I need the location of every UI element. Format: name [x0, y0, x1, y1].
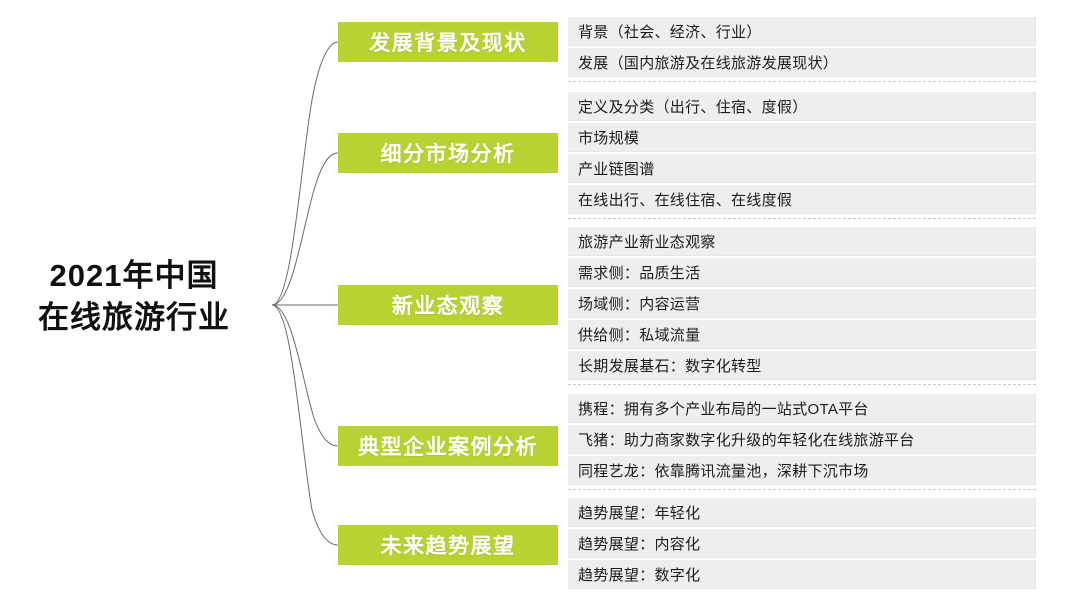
leaf-label: 产业链图谱 [568, 158, 655, 179]
leaf-label: 旅游产业新业态观察 [568, 231, 716, 252]
leaf-row[interactable]: 趋势展望：内容化 [568, 529, 1036, 558]
leaf-row[interactable]: 市场规模 [568, 123, 1036, 152]
leaf-row[interactable]: 定义及分类（出行、住宿、度假） [568, 92, 1036, 121]
connector-line-5 [272, 305, 338, 545]
leaf-row[interactable]: 背景（社会、经济、行业） [568, 17, 1036, 46]
group-separator [568, 218, 1036, 219]
branch-label-5: 未来趋势展望 [381, 530, 516, 560]
leaf-label: 长期发展基石：数字化转型 [568, 355, 762, 376]
group-separator [568, 384, 1036, 385]
leaf-label: 趋势展望：数字化 [568, 564, 700, 585]
mindmap-canvas: 2021年中国 在线旅游行业 发展背景及现状 细分市场分析 新业态观察 典型企业… [0, 0, 1080, 607]
branch-box-2[interactable]: 细分市场分析 [338, 133, 558, 173]
leaf-label: 趋势展望：年轻化 [568, 502, 700, 523]
leaf-row[interactable]: 场域侧：内容运营 [568, 289, 1036, 318]
leaf-row[interactable]: 旅游产业新业态观察 [568, 227, 1036, 256]
leaf-label: 供给侧：私域流量 [568, 324, 700, 345]
leaf-row[interactable]: 同程艺龙：依靠腾讯流量池，深耕下沉市场 [568, 456, 1036, 485]
leaf-label: 趋势展望：内容化 [568, 533, 700, 554]
branch-box-1[interactable]: 发展背景及现状 [338, 22, 558, 62]
leaf-label: 背景（社会、经济、行业） [568, 21, 762, 42]
leaf-row[interactable]: 发展（国内旅游及在线旅游发展现状） [568, 48, 1036, 77]
branch-box-5[interactable]: 未来趋势展望 [338, 525, 558, 565]
connector-line-1 [272, 42, 338, 305]
leaf-label: 飞猪：助力商家数字化升级的年轻化在线旅游平台 [568, 429, 915, 450]
connector-line-2 [272, 153, 338, 305]
leaf-label: 在线出行、在线住宿、在线度假 [568, 189, 792, 210]
branch-label-3: 新业态观察 [392, 290, 505, 320]
leaf-row[interactable]: 在线出行、在线住宿、在线度假 [568, 185, 1036, 214]
leaf-label: 场域侧：内容运营 [568, 293, 700, 314]
branch-box-4[interactable]: 典型企业案例分析 [338, 426, 558, 466]
leaf-row[interactable]: 趋势展望：数字化 [568, 560, 1036, 589]
leaf-label: 需求侧：品质生活 [568, 262, 700, 283]
branch-box-3[interactable]: 新业态观察 [338, 285, 558, 325]
leaf-row[interactable]: 需求侧：品质生活 [568, 258, 1036, 287]
root-title: 2021年中国 在线旅游行业 [0, 255, 268, 339]
branch-label-4: 典型企业案例分析 [358, 431, 538, 461]
leaf-row[interactable]: 长期发展基石：数字化转型 [568, 351, 1036, 380]
leaf-label: 定义及分类（出行、住宿、度假） [568, 96, 808, 117]
branch-label-1: 发展背景及现状 [369, 27, 527, 57]
group-separator [568, 489, 1036, 490]
leaf-row[interactable]: 趋势展望：年轻化 [568, 498, 1036, 527]
leaf-label: 发展（国内旅游及在线旅游发展现状） [568, 52, 838, 73]
root-title-line-1: 2021年中国 [0, 255, 268, 297]
leaf-label: 同程艺龙：依靠腾讯流量池，深耕下沉市场 [568, 460, 869, 481]
leaf-label: 市场规模 [568, 127, 639, 148]
connector-line-4 [272, 305, 338, 446]
leaf-label: 携程：拥有多个产业布局的一站式OTA平台 [568, 398, 869, 419]
leaf-row[interactable]: 供给侧：私域流量 [568, 320, 1036, 349]
root-title-line-2: 在线旅游行业 [0, 297, 268, 339]
leaf-row[interactable]: 产业链图谱 [568, 154, 1036, 183]
branch-label-2: 细分市场分析 [381, 138, 516, 168]
leaf-row[interactable]: 飞猪：助力商家数字化升级的年轻化在线旅游平台 [568, 425, 1036, 454]
group-separator [568, 81, 1036, 82]
leaf-row[interactable]: 携程：拥有多个产业布局的一站式OTA平台 [568, 394, 1036, 423]
